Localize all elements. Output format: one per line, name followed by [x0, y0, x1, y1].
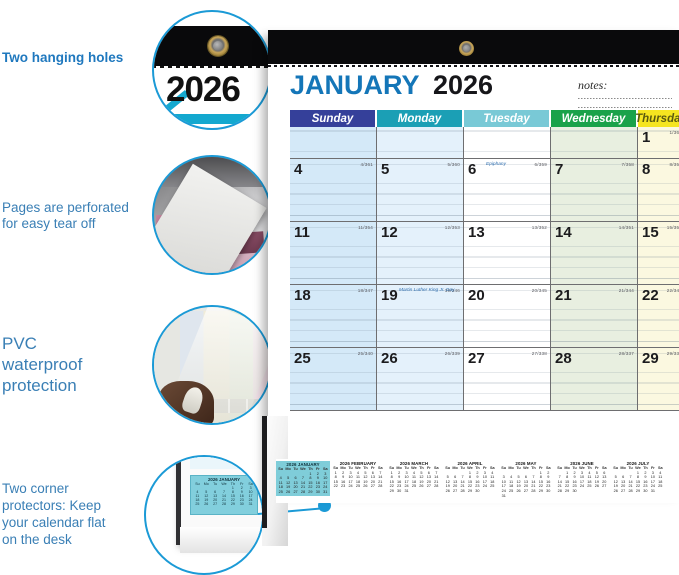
calendar-week-row: 44/36155/36066/359Epiphany77/35888/357 [290, 159, 679, 222]
mini-day [418, 489, 425, 494]
mini-day: 28 [556, 489, 563, 494]
calendar-day-cell[interactable]: 44/361 [290, 159, 377, 221]
photo-mini-calendar: 2026 JANUARY SuMoTuWeThFrSa1234567891011… [190, 475, 258, 515]
mini-day [545, 494, 552, 499]
mini-day [578, 489, 585, 494]
mini-day: 23 [339, 484, 346, 489]
day-of-year: 20/345 [532, 288, 547, 293]
day-number: 18 [294, 287, 311, 304]
mini-month-march[interactable]: 2026 MARCHSuMoTuWeThFrSa1234567891011121… [388, 461, 440, 494]
calendar-day-cell[interactable]: 1818/347 [290, 285, 377, 347]
mini-day [410, 489, 417, 494]
day-header-sunday: Sunday [290, 110, 377, 127]
mini-day: 30 [314, 490, 321, 495]
day-of-year: 12/353 [445, 225, 460, 230]
photo-mini-day: 29 [228, 502, 237, 506]
day-of-year: 15/350 [667, 225, 679, 230]
photo-mini-day: 26 [202, 502, 211, 506]
day-number: 26 [381, 350, 398, 367]
calendar-day-cell[interactable]: 2828/337 [551, 348, 638, 410]
mini-day [433, 489, 440, 494]
calendar-day-cell[interactable]: 88/357 [638, 159, 679, 221]
feature-caption-perforated: Pages are perforated for easy tear off [2, 200, 129, 232]
calendar-day-cell[interactable]: 1515/350 [638, 222, 679, 284]
day-number: 15 [642, 224, 659, 241]
photo-mini-day: 28 [220, 502, 229, 506]
hanging-hole-grommet-icon [459, 41, 474, 56]
mini-day: 28 [627, 489, 634, 494]
closeup-year-text: 2026 [166, 70, 272, 110]
day-of-year: 25/340 [358, 351, 373, 356]
calendar-day-cell[interactable]: 1919/346Martin Luther King Jr. Day [377, 285, 464, 347]
mini-day: 24 [347, 484, 354, 489]
mini-month-february[interactable]: 2026 FEBRUARYSuMoTuWeThFrSa1234567891011… [332, 461, 384, 489]
calendar-month-title: JANUARY [290, 70, 420, 101]
day-header-thursday: Thursday [638, 110, 679, 127]
calendar-day-cell[interactable]: 77/358 [551, 159, 638, 221]
day-of-year: 4/361 [361, 162, 374, 167]
calendar-spine [262, 416, 267, 528]
day-number: 29 [642, 350, 659, 367]
mini-day [537, 494, 544, 499]
day-of-year: 21/344 [619, 288, 634, 293]
feature-caption-hanging-holes: Two hanging holes [2, 50, 123, 66]
photo-mini-day: 27 [211, 502, 220, 506]
mini-day [530, 494, 537, 499]
calendar-week-row: 1818/3471919/346Martin Luther King Jr. D… [290, 285, 679, 348]
grommet-icon [208, 36, 228, 56]
mini-day: 30 [474, 489, 481, 494]
calendar-day-cell[interactable]: 2222/343 [638, 285, 679, 347]
calendar-day-cell[interactable]: 2929/336 [638, 348, 679, 410]
mini-day: 29 [388, 489, 395, 494]
calendar-day-cell[interactable] [551, 127, 638, 158]
mini-day: 29 [634, 489, 641, 494]
mini-month-june[interactable]: 2026 JUNESuMoTuWeThFrSa12345678910111213… [556, 461, 608, 494]
day-of-year: 6/359 [535, 162, 548, 167]
calendar-day-cell[interactable]: 1111/354 [290, 222, 377, 284]
day-of-year: 26/339 [445, 351, 460, 356]
decorative-teal-bar [160, 114, 272, 124]
calendar-week-row: 11/364 [290, 127, 679, 159]
day-number: 28 [555, 350, 572, 367]
day-of-year: 18/347 [358, 288, 373, 293]
calendar-day-cell[interactable]: 2121/344 [551, 285, 638, 347]
calendar-week-grid: 11/36444/36155/36066/359Epiphany77/35888… [290, 127, 679, 411]
mini-day: 30 [395, 489, 402, 494]
day-of-year: 27/338 [532, 351, 547, 356]
photo-mini-calendar-grid: SuMoTuWeThFrSa12345678910111213141516171… [191, 482, 257, 506]
day-number: 13 [468, 224, 485, 241]
calendar-day-cell[interactable]: 1212/353 [377, 222, 464, 284]
day-of-year: 13/352 [532, 225, 547, 230]
mini-day: 22 [332, 484, 339, 489]
mini-day: 31 [403, 489, 410, 494]
callout-circle-pvc [152, 305, 272, 425]
callout-circle-hanging-hole: 2026 [152, 10, 272, 130]
callout-circle-perforation: Saturday [152, 155, 272, 275]
day-number: 7 [555, 161, 563, 178]
mini-week-row: 31 [500, 494, 552, 499]
mini-week-row: 22232425262728 [332, 484, 384, 489]
mini-month-july[interactable]: 2026 JULYSuMoTuWeThFrSa12345678910111213… [612, 461, 664, 494]
mini-day: 28 [459, 489, 466, 494]
day-number: 6 [468, 161, 476, 178]
day-number: 20 [468, 287, 485, 304]
photo-page-shadow [180, 527, 264, 553]
mini-day [425, 489, 432, 494]
mini-day [601, 489, 608, 494]
mini-day: 26 [284, 490, 291, 495]
calendar-day-cell[interactable]: 1313/352 [464, 222, 551, 284]
mini-day [507, 494, 514, 499]
year-overview-strip: 2026 JANUARYSuMoTuWeThFrSa12345678910111… [276, 459, 679, 503]
day-of-year: 7/358 [622, 162, 635, 167]
mini-day: 25 [354, 484, 361, 489]
mini-day: 27 [451, 489, 458, 494]
mini-month-april[interactable]: 2026 APRILSuMoTuWeThFrSa1234567891011121… [444, 461, 496, 494]
mini-week-row: 2627282930 [444, 489, 496, 494]
mini-day [489, 489, 496, 494]
calendar-day-cell[interactable] [464, 127, 551, 158]
mini-day [522, 494, 529, 499]
mini-week-row: 25262728293031 [277, 490, 329, 495]
day-of-year: 28/337 [619, 351, 634, 356]
day-number: 19 [381, 287, 398, 304]
photo-mini-day: 30 [237, 502, 246, 506]
mini-day: 26 [612, 489, 619, 494]
photo-mini-day: 25 [193, 502, 202, 506]
holiday-label: Martin Luther King Jr. Day [399, 288, 455, 293]
calendar-week-row: 2525/3402626/3392727/3382828/3372929/336 [290, 348, 679, 411]
calendar-perforation-line [268, 65, 679, 67]
mini-day [586, 489, 593, 494]
mini-day [657, 489, 664, 494]
calendar-day-cell[interactable]: 66/359Epiphany [464, 159, 551, 221]
day-number: 21 [555, 287, 572, 304]
day-of-year: 14/351 [619, 225, 634, 230]
day-of-year: 5/360 [448, 162, 461, 167]
mini-day: 31 [649, 489, 656, 494]
mini-day [515, 494, 522, 499]
mini-day: 29 [563, 489, 570, 494]
calendar-page: JANUARY 2026 notes: SundayMondayTuesdayW… [268, 30, 679, 490]
calendar-year-title: 2026 [433, 70, 493, 101]
calendar-day-cell[interactable] [290, 127, 377, 158]
mini-month-may[interactable]: 2026 MAYSuMoTuWeThFrSa123456789101112131… [500, 461, 552, 498]
mini-week-row: 293031 [388, 489, 440, 494]
day-number: 4 [294, 161, 302, 178]
calendar-day-cell[interactable]: 2525/340 [290, 348, 377, 410]
day-header-monday: Monday [377, 110, 464, 127]
day-number: 22 [642, 287, 659, 304]
mini-day: 31 [500, 494, 507, 499]
mini-day: 27 [369, 484, 376, 489]
day-header-tuesday: Tuesday [464, 110, 551, 127]
mini-day: 26 [362, 484, 369, 489]
notes-writing-line-1 [578, 98, 672, 99]
day-number: 5 [381, 161, 389, 178]
feature-caption-corner-protectors: Two corner protectors: Keep your calenda… [2, 480, 106, 548]
mini-day: 31 [322, 490, 329, 495]
day-of-year: 11/354 [358, 225, 373, 230]
calendar-day-cell[interactable] [377, 127, 464, 158]
mini-day: 25 [277, 490, 284, 495]
perforation-line [152, 66, 272, 68]
day-number: 27 [468, 350, 485, 367]
mini-day: 28 [299, 490, 306, 495]
day-number: 11 [294, 224, 310, 241]
mini-week-row: 282930 [556, 489, 608, 494]
photo-top-strip [190, 457, 260, 469]
calendar-day-header-row: SundayMondayTuesdayWednesdayThursday [290, 110, 679, 127]
calendar-day-cell[interactable]: 2727/338 [464, 348, 551, 410]
mini-month-january[interactable]: 2026 JANUARYSuMoTuWeThFrSa12345678910111… [276, 461, 330, 496]
day-number: 25 [294, 350, 311, 367]
mini-day: 26 [444, 489, 451, 494]
mini-day: 29 [466, 489, 473, 494]
day-number: 14 [555, 224, 572, 241]
holiday-label: Epiphany [486, 162, 506, 167]
mini-day: 30 [571, 489, 578, 494]
day-of-year: 29/336 [667, 351, 679, 356]
calendar-day-cell[interactable]: 1414/351 [551, 222, 638, 284]
mini-day: 29 [307, 490, 314, 495]
feature-caption-pvc: PVC waterproof protection [2, 333, 82, 396]
mini-day: 27 [619, 489, 626, 494]
calendar-week-row: 1111/3541212/3531313/3521414/3511515/350 [290, 222, 679, 285]
day-of-year: 22/343 [667, 288, 679, 293]
day-of-year: 1/364 [670, 130, 679, 135]
day-number: 1 [642, 129, 650, 146]
calendar-day-cell[interactable]: 55/360 [377, 159, 464, 221]
notes-writing-line-2 [578, 107, 672, 108]
mini-day: 30 [642, 489, 649, 494]
mini-day: 28 [377, 484, 384, 489]
day-number: 8 [642, 161, 650, 178]
mini-day: 27 [292, 490, 299, 495]
photo-mini-day: 31 [246, 502, 255, 506]
day-header-wednesday: Wednesday [551, 110, 638, 127]
calendar-day-cell[interactable]: 11/364 [638, 127, 679, 158]
day-number: 12 [381, 224, 398, 241]
day-of-year: 8/357 [670, 162, 679, 167]
calendar-day-cell[interactable]: 2020/345 [464, 285, 551, 347]
mini-week-row: 262728293031 [612, 489, 664, 494]
notes-label: notes: [578, 78, 607, 93]
callout-circle-corner-protector: 2026 JANUARY SuMoTuWeThFrSa1234567891011… [144, 455, 264, 575]
mini-day [593, 489, 600, 494]
calendar-day-cell[interactable]: 2626/339 [377, 348, 464, 410]
mini-day [481, 489, 488, 494]
